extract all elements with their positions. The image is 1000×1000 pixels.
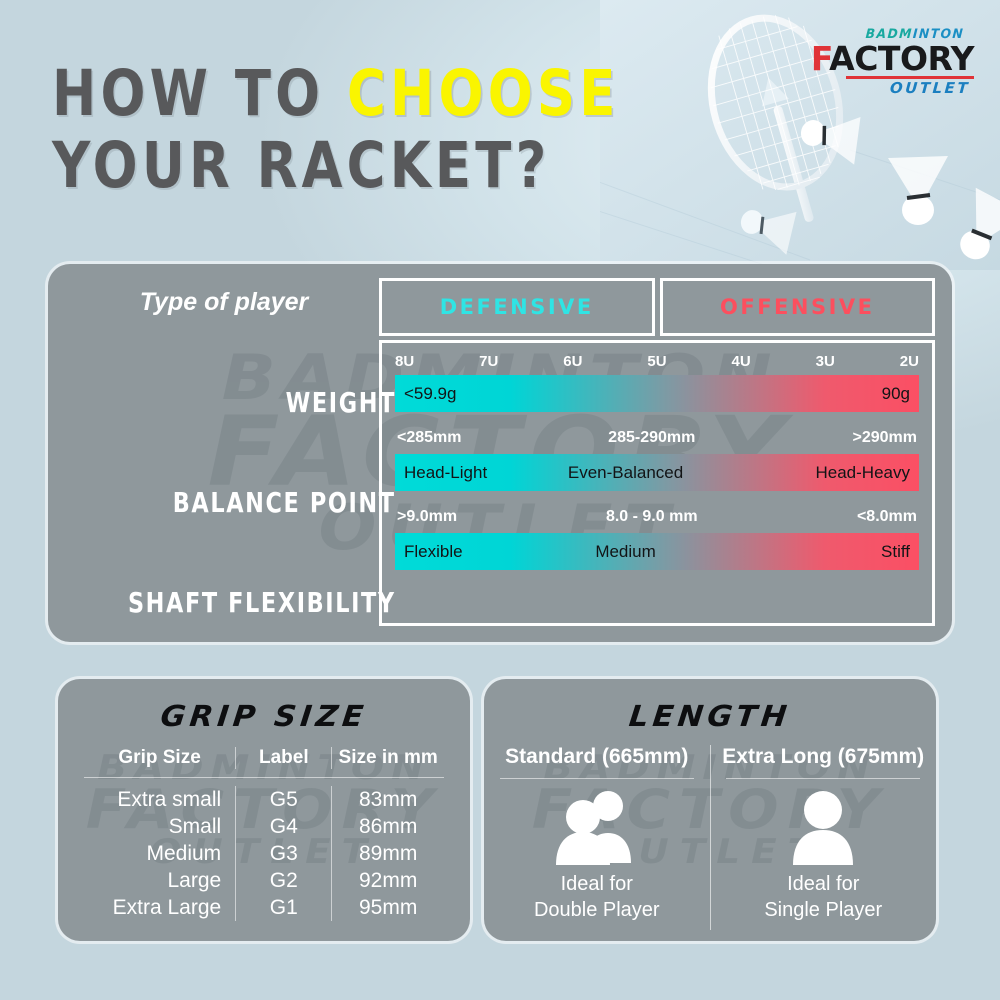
length-extralong-caption-line1: Ideal for	[764, 871, 882, 897]
logo-badminton-text: BADMINTON	[814, 28, 964, 41]
grip-label-value: G5	[235, 786, 332, 813]
grip-label-value: G4	[235, 813, 332, 840]
length-columns: Standard (665mm) Ideal for Double Player	[484, 745, 936, 930]
grip-col-header-mm: Size in mm	[332, 747, 444, 769]
shaft-gradient-bar: Flexible Medium Stiff	[395, 533, 919, 570]
length-standard-caption: Ideal for Double Player	[534, 871, 660, 923]
weight-bar-left-label: <59.9g	[404, 384, 456, 404]
logo-factory-text: FACTORY	[811, 42, 974, 75]
tick-4u: 4U	[732, 353, 751, 370]
length-standard-caption-line1: Ideal for	[534, 871, 660, 897]
logo-outlet-text: OUTLET	[810, 81, 970, 96]
length-standard-title: Standard (665mm)	[505, 745, 688, 778]
balance-bar-right-label: Head-Heavy	[816, 463, 911, 483]
length-divider-standard	[500, 778, 694, 779]
shaft-bar-left-label: Flexible	[404, 542, 463, 562]
length-divider-extralong	[726, 778, 920, 779]
balance-bar-center-label: Even-Balanced	[568, 463, 683, 483]
row-label-balance-point: BALANCE POINT	[173, 486, 396, 519]
table-row: Extra Large G1 95mm	[84, 894, 444, 921]
length-panel: BADMINTON FACTORY OUTLET LENGTH Standard…	[484, 679, 936, 941]
length-extralong-caption-line2: Single Player	[764, 897, 882, 923]
grip-mm-value: 95mm	[332, 894, 444, 921]
length-extralong-caption: Ideal for Single Player	[764, 871, 882, 923]
racket-spec-panel: BADMINTON FACTORY OUTLET Type of player …	[48, 264, 952, 642]
grip-col-header-size: Grip Size	[84, 747, 235, 769]
tick-2u: 2U	[900, 353, 919, 370]
player-type-header-row: DEFENSIVE OFFENSIVE	[379, 278, 935, 336]
brand-logo: BADMINTON FACTORY OUTLET	[811, 28, 974, 96]
shaft-range-center: 8.0 - 9.0 mm	[606, 508, 698, 526]
grip-table-header: Grip Size Label Size in mm	[84, 747, 444, 778]
page-title: HOW TO CHOOSE YOUR RACKET?	[52, 58, 728, 202]
balance-range-left: <285mm	[397, 429, 462, 447]
title-text-highlight: CHOOSE	[347, 57, 620, 130]
shaft-range-right: <8.0mm	[857, 508, 917, 526]
row-label-shaft-flexibility: SHAFT FLEXIBILITY	[128, 586, 396, 619]
tick-7u: 7U	[479, 353, 498, 370]
balance-bar-left-label: Head-Light	[404, 463, 487, 483]
logo-f: F	[811, 39, 829, 78]
grip-label-value: G3	[235, 840, 332, 867]
title-line-2: YOUR RACKET?	[52, 130, 620, 202]
infographic-canvas: HOW TO CHOOSE YOUR RACKET? BADMINTON FAC…	[0, 0, 1000, 1000]
balance-gradient-bar: Head-Light Even-Balanced Head-Heavy	[395, 454, 919, 491]
table-row: Small G4 86mm	[84, 813, 444, 840]
balance-range-right: >290mm	[853, 429, 918, 447]
title-line-1: HOW TO CHOOSE	[52, 58, 620, 130]
header-offensive[interactable]: OFFENSIVE	[660, 278, 936, 336]
shaft-range-row: >9.0mm 8.0 - 9.0 mm <8.0mm	[395, 508, 919, 528]
weight-bar-right-label: 90g	[882, 384, 910, 404]
length-extralong-title: Extra Long (675mm)	[722, 745, 924, 778]
type-of-player-label: Type of player	[48, 288, 400, 317]
tick-6u: 6U	[563, 353, 582, 370]
length-column-extra-long[interactable]: Extra Long (675mm) Ideal for Single Play…	[711, 745, 937, 930]
grip-mm-value: 92mm	[332, 867, 444, 894]
table-row: Large G2 92mm	[84, 867, 444, 894]
shaft-range-left: >9.0mm	[397, 508, 457, 526]
spec-table: DEFENSIVE OFFENSIVE 8U 7U 6U 5U 4U 3U 2U	[379, 278, 935, 626]
grip-size-value: Large	[84, 867, 235, 894]
balance-range-row: <285mm 285-290mm >290mm	[395, 429, 919, 449]
length-column-standard[interactable]: Standard (665mm) Ideal for Double Player	[484, 745, 711, 930]
shaft-bar-center-label: Medium	[595, 542, 655, 562]
grip-table-body: Extra small G5 83mm Small G4 86mm Medium…	[84, 778, 444, 921]
grip-mm-value: 86mm	[332, 813, 444, 840]
grip-mm-value: 89mm	[332, 840, 444, 867]
logo-badm: BADM	[865, 27, 913, 42]
grip-size-value: Extra Large	[84, 894, 235, 921]
logo-actory: ACTORY	[829, 39, 974, 78]
balance-range-center: 285-290mm	[608, 429, 695, 447]
grip-size-heading: GRIP SIZE	[58, 699, 470, 733]
two-people-icon	[545, 783, 649, 865]
grip-size-value: Small	[84, 813, 235, 840]
table-row: Medium G3 89mm	[84, 840, 444, 867]
tick-3u: 3U	[816, 353, 835, 370]
title-text-plain: HOW TO	[52, 57, 347, 130]
grip-col-header-label: Label	[235, 747, 332, 769]
tick-5u: 5U	[647, 353, 666, 370]
weight-gradient-bar: <59.9g 90g	[395, 375, 919, 412]
grip-label-value: G1	[235, 894, 332, 921]
tick-8u: 8U	[395, 353, 414, 370]
grip-label-value: G2	[235, 867, 332, 894]
grip-mm-value: 83mm	[332, 786, 444, 813]
shaft-bar-right-label: Stiff	[881, 542, 910, 562]
length-heading: LENGTH	[484, 699, 936, 733]
grip-size-value: Extra small	[84, 786, 235, 813]
logo-inton: INTON	[912, 27, 964, 42]
table-row: Extra small G5 83mm	[84, 786, 444, 813]
header-defensive[interactable]: DEFENSIVE	[379, 278, 655, 336]
single-person-icon	[781, 783, 865, 865]
length-standard-caption-line2: Double Player	[534, 897, 660, 923]
grip-size-table: Grip Size Label Size in mm Extra small G…	[84, 747, 444, 921]
grip-size-panel: BADMINTON FACTORY OUTLET GRIP SIZE Grip …	[58, 679, 470, 941]
spec-body: 8U 7U 6U 5U 4U 3U 2U <59.9g 90g <285	[379, 340, 935, 626]
grip-size-value: Medium	[84, 840, 235, 867]
weight-scale-ticks: 8U 7U 6U 5U 4U 3U 2U	[395, 353, 919, 370]
